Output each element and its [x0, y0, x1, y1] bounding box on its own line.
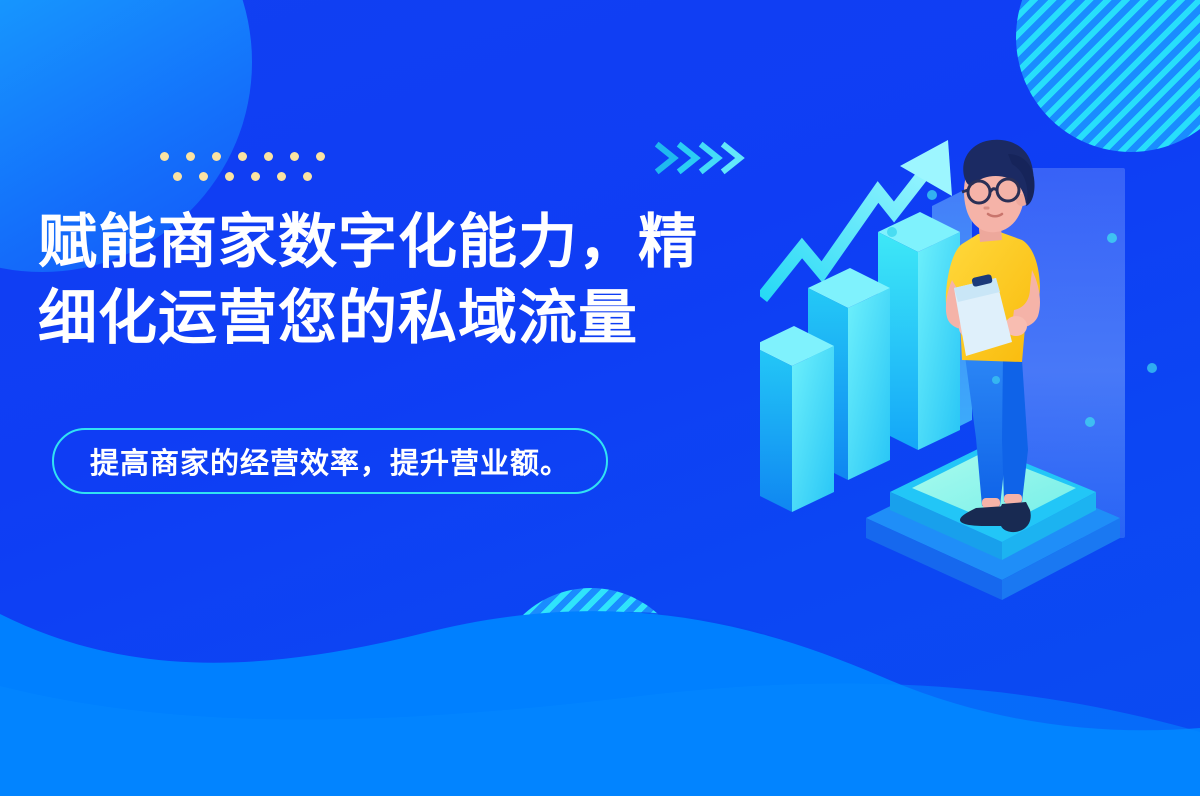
dot	[238, 152, 247, 161]
dot	[303, 172, 312, 181]
banner-subtitle-pill: 提高商家的经营效率，提升营业额。	[52, 428, 608, 494]
dot	[277, 172, 286, 181]
dot	[199, 172, 208, 181]
person-leg-right	[1002, 356, 1028, 502]
promotional-banner: 赋能商家数字化能力，精 细化运营您的私域流量 提高商家的经营效率，提升营业额。	[0, 0, 1200, 796]
floating-dot	[927, 190, 937, 200]
illustration-businessman-growth	[760, 120, 1200, 620]
floating-dot	[1147, 363, 1157, 373]
dot	[290, 152, 299, 161]
dot	[316, 152, 325, 161]
chevron-right-icon	[703, 146, 718, 170]
dot	[264, 152, 273, 161]
dot	[225, 172, 234, 181]
banner-subtitle-text: 提高商家的经营效率，提升营业额。	[90, 440, 570, 482]
dot	[160, 152, 169, 161]
chevron-right-icon	[659, 146, 674, 170]
dot	[212, 152, 221, 161]
banner-headline: 赋能商家数字化能力，精 细化运营您的私域流量	[38, 205, 778, 356]
dot	[186, 152, 195, 161]
dot-row-bottom	[173, 172, 342, 181]
chevron-right-icon	[725, 146, 740, 170]
floating-dot	[992, 376, 1000, 384]
bar-chart-bar-tall	[878, 212, 960, 450]
dot	[173, 172, 182, 181]
chevron-right-group-icon	[655, 138, 750, 178]
dot-grid-decor	[160, 152, 342, 181]
dot	[251, 172, 260, 181]
floating-dot	[1107, 233, 1117, 243]
floating-dot	[887, 227, 897, 237]
dot-row-top	[160, 152, 342, 161]
floating-dot	[1085, 417, 1095, 427]
chevron-right-icon	[681, 146, 696, 170]
